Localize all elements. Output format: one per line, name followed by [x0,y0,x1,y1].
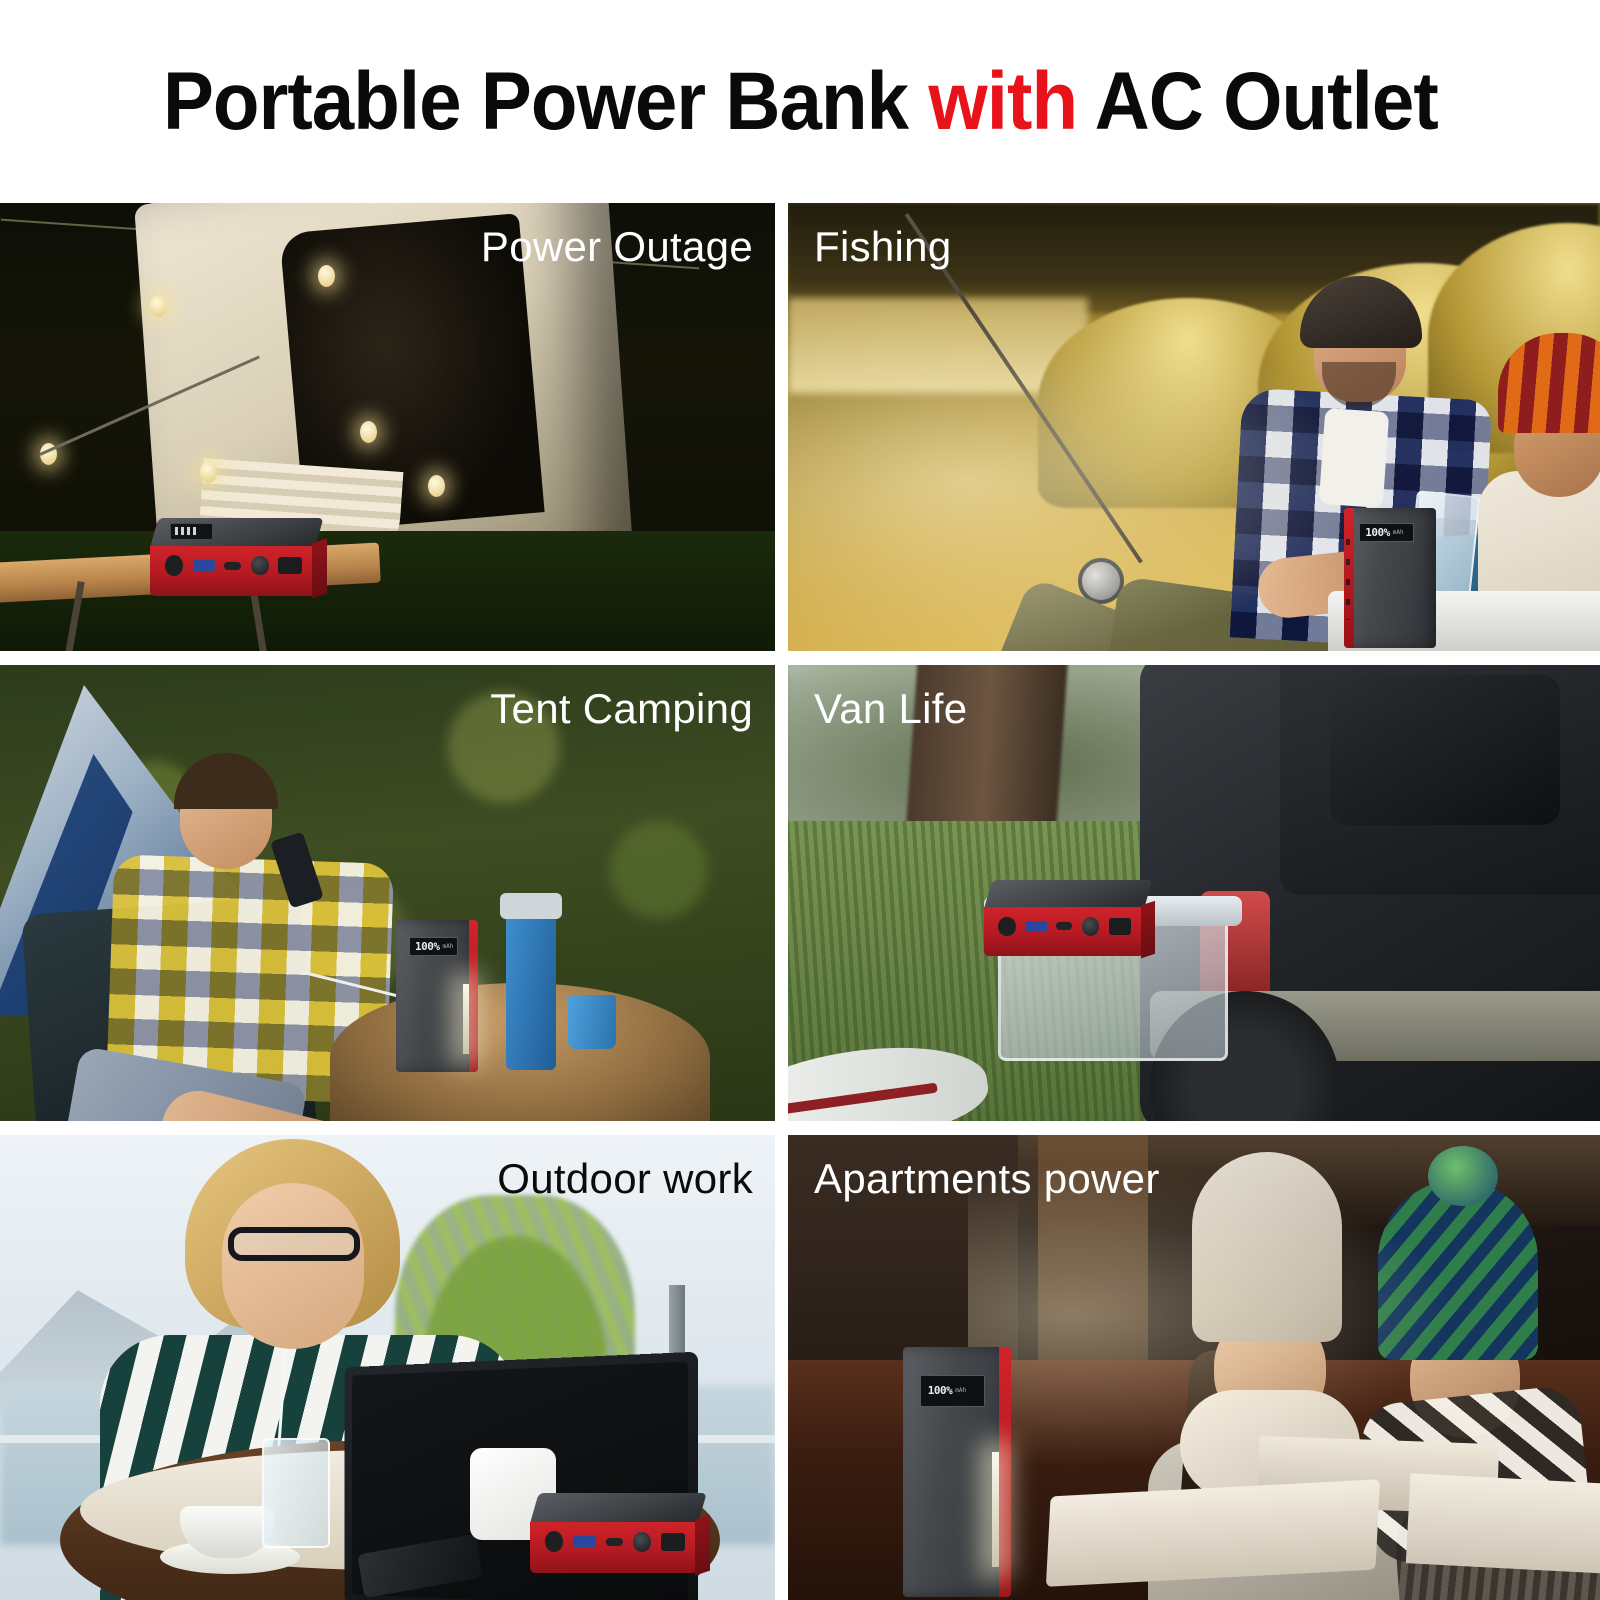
power-bank-vertical[interactable]: 100% mAh [903,1347,1011,1597]
light-bulb-icon [200,461,217,483]
light-bulb-icon [150,295,167,317]
scenario-cell-outdoor-work[interactable]: Outdoor work [0,1135,775,1600]
device-side-panel [695,1515,710,1576]
usb-a-port[interactable] [1025,921,1047,931]
ac-outlet-port[interactable] [1109,918,1132,935]
cargo-duffel-bag [1330,675,1560,825]
dc-in-port[interactable] [998,917,1015,937]
beanie-pompom [1428,1146,1498,1206]
usb-c-port[interactable] [224,562,241,570]
power-button[interactable] [251,556,269,575]
scene-van-life [788,665,1600,1121]
title-accent-word: with [928,56,1077,147]
scenario-cell-van-life[interactable]: Van Life [788,665,1600,1121]
device-red-stripe [999,1347,1011,1597]
battery-percent-value: 100% [928,1384,953,1397]
thermos-cap [500,893,562,919]
power-button[interactable] [1082,917,1099,936]
scenario-cell-power-outage[interactable]: Power Outage [0,203,775,651]
scenario-label-apartments-power: Apartments power [814,1155,1160,1203]
usb-a-port[interactable] [573,1536,596,1547]
paper-sheet [1406,1473,1600,1576]
title-part-2: AC Outlet [1077,56,1438,147]
usb-a-port[interactable] [193,560,215,571]
title-part-1: Portable Power Bank [163,56,928,147]
device-port-row [998,917,1132,937]
eyeglasses [228,1227,360,1261]
device-led-light [463,984,469,1054]
battery-unit-label: mAh [1393,529,1404,536]
dc-in-port[interactable] [545,1531,563,1552]
device-red-stripe [469,920,478,1072]
blue-thermos [506,910,556,1070]
product-feature-banner: Portable Power Bank with AC Outlet [0,0,1600,1600]
device-top-shell [984,880,1152,909]
device-lcd-screen: 100% mAh [409,937,458,957]
child-pom-beanie [1378,1180,1538,1360]
device-led-light [992,1452,1000,1567]
page-title: Portable Power Bank with AC Outlet [163,61,1438,143]
power-bank-horizontal[interactable] [530,1493,698,1573]
light-bulb-icon [318,265,335,287]
device-lcd-screen: 100% mAh [920,1375,985,1408]
water-glass [262,1438,330,1548]
usb-c-port[interactable] [1056,922,1072,930]
ac-outlet-port[interactable] [661,1533,685,1551]
light-bulb-icon [428,475,445,497]
power-bank-horizontal[interactable] [984,880,1144,956]
power-bank-vertical[interactable]: 100% mAh [396,920,478,1072]
scenario-label-fishing: Fishing [814,223,952,271]
battery-unit-label: mAh [955,1387,966,1394]
scenario-label-outdoor-work: Outdoor work [497,1155,753,1203]
device-side-panel [1141,900,1155,958]
device-side-panel [312,539,327,598]
scenario-cell-apartments-power[interactable]: 100% mAh Apartments power [788,1135,1600,1600]
usb-c-port[interactable] [606,1538,623,1546]
scene-tent-camping: 100% mAh [0,665,775,1121]
scenario-grid: Power Outage [0,203,1600,1600]
lcd-segments [175,527,196,534]
battery-unit-label: mAh [443,943,454,950]
power-bank-horizontal[interactable] [150,518,315,596]
scenario-label-van-life: Van Life [814,685,967,733]
scene-outdoor-work [0,1135,775,1600]
title-bar: Portable Power Bank with AC Outlet [0,0,1600,203]
dc-in-port[interactable] [165,555,183,575]
ac-outlet-port[interactable] [278,557,302,574]
device-port-row [165,555,304,575]
device-lcd-screen [170,523,213,540]
scenario-cell-tent-camping[interactable]: 100% mAh Tent Camping [0,665,775,1121]
light-bulb-icon [360,421,377,443]
device-port-row [545,1531,686,1552]
scene-apartments-power: 100% mAh [788,1135,1600,1600]
battery-percent-value: 100% [1365,526,1390,539]
blue-cup [568,995,616,1049]
device-lcd-screen: 100% mAh [1359,523,1414,541]
worker-face [222,1183,364,1349]
battery-percent-value: 100% [415,940,440,953]
mother-beanie [1192,1152,1342,1342]
device-vents [1346,539,1351,620]
scenario-label-power-outage: Power Outage [481,223,753,271]
scenario-label-tent-camping: Tent Camping [490,685,753,733]
scenario-cell-fishing[interactable]: 100% mAh Fishing [788,203,1600,651]
power-bank-vertical[interactable]: 100% mAh [1344,508,1436,648]
notebook [1046,1479,1380,1587]
device-top-shell [530,1493,707,1523]
power-button[interactable] [633,1532,651,1552]
